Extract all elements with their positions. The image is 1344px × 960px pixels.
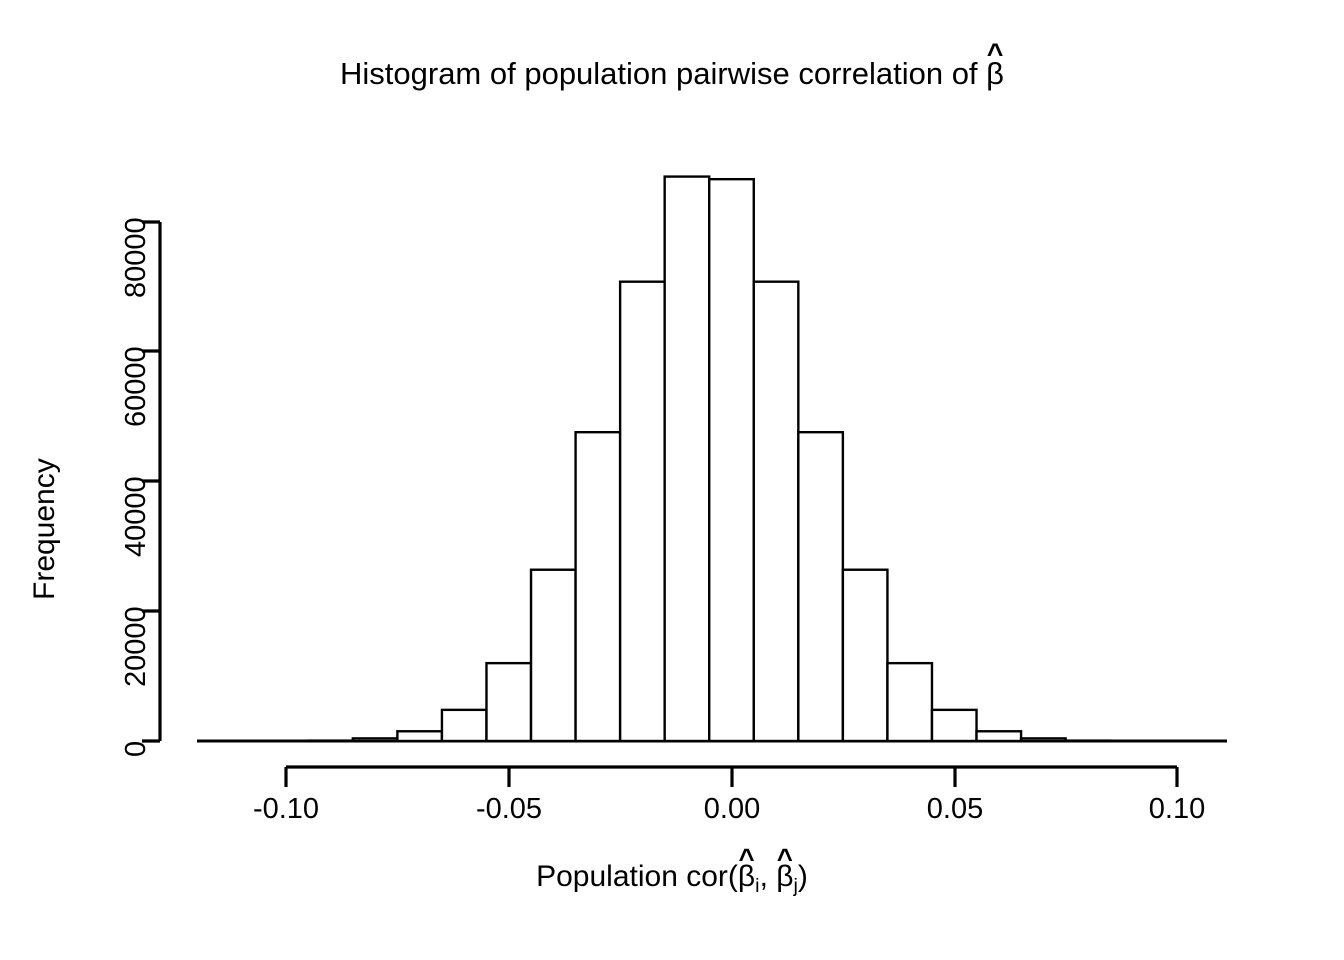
histogram-bar: [887, 663, 932, 741]
y-tick-label-3: 60000: [122, 346, 151, 427]
histogram-bar: [576, 432, 621, 741]
beta-hat-i: ^β: [738, 862, 755, 892]
y-tick-label-0: 0: [122, 741, 151, 757]
histogram-bar: [442, 710, 487, 741]
x-tick-label-2: 0.00: [704, 795, 760, 824]
x-tick-label-4: 0.10: [1149, 795, 1205, 824]
hat-accent-icon: ^: [738, 845, 754, 873]
histogram-bar: [665, 177, 710, 741]
y-tick-label-2: 40000: [122, 476, 151, 557]
histogram-bar: [620, 282, 665, 741]
x-tick-label-0: -0.10: [253, 795, 319, 824]
histogram-bar: [353, 738, 398, 741]
histogram-bar: [843, 570, 888, 741]
histogram-bar: [709, 179, 754, 741]
x-axis: [286, 767, 1177, 787]
histogram-bar: [531, 570, 576, 741]
histogram-bar: [1021, 738, 1066, 741]
beta-hat-j: ^β: [776, 862, 793, 892]
histogram-bar: [754, 282, 799, 741]
histogram-bars: [308, 177, 1110, 741]
chart-canvas: [0, 0, 1344, 960]
histogram-bar: [798, 432, 843, 741]
x-title-sep: ,: [760, 860, 777, 893]
x-tick-label-1: -0.05: [476, 795, 542, 824]
histogram-bar: [486, 663, 531, 741]
y-tick-label-1: 20000: [122, 606, 151, 687]
y-axis-title: Frequency: [30, 458, 60, 600]
histogram-bar: [932, 710, 977, 741]
histogram-bar: [397, 731, 442, 741]
hat-accent-icon: ^: [777, 845, 793, 873]
histogram-bar: [977, 731, 1022, 741]
histogram-plot-root: Histogram of population pairwise correla…: [0, 0, 1344, 960]
y-tick-label-4: 80000: [122, 217, 151, 298]
x-axis-title: Population cor(^βi, ^βj): [0, 862, 1344, 897]
x-tick-label-3: 0.05: [927, 795, 983, 824]
x-title-suffix: ): [798, 860, 808, 893]
x-title-prefix: Population cor(: [536, 860, 738, 893]
